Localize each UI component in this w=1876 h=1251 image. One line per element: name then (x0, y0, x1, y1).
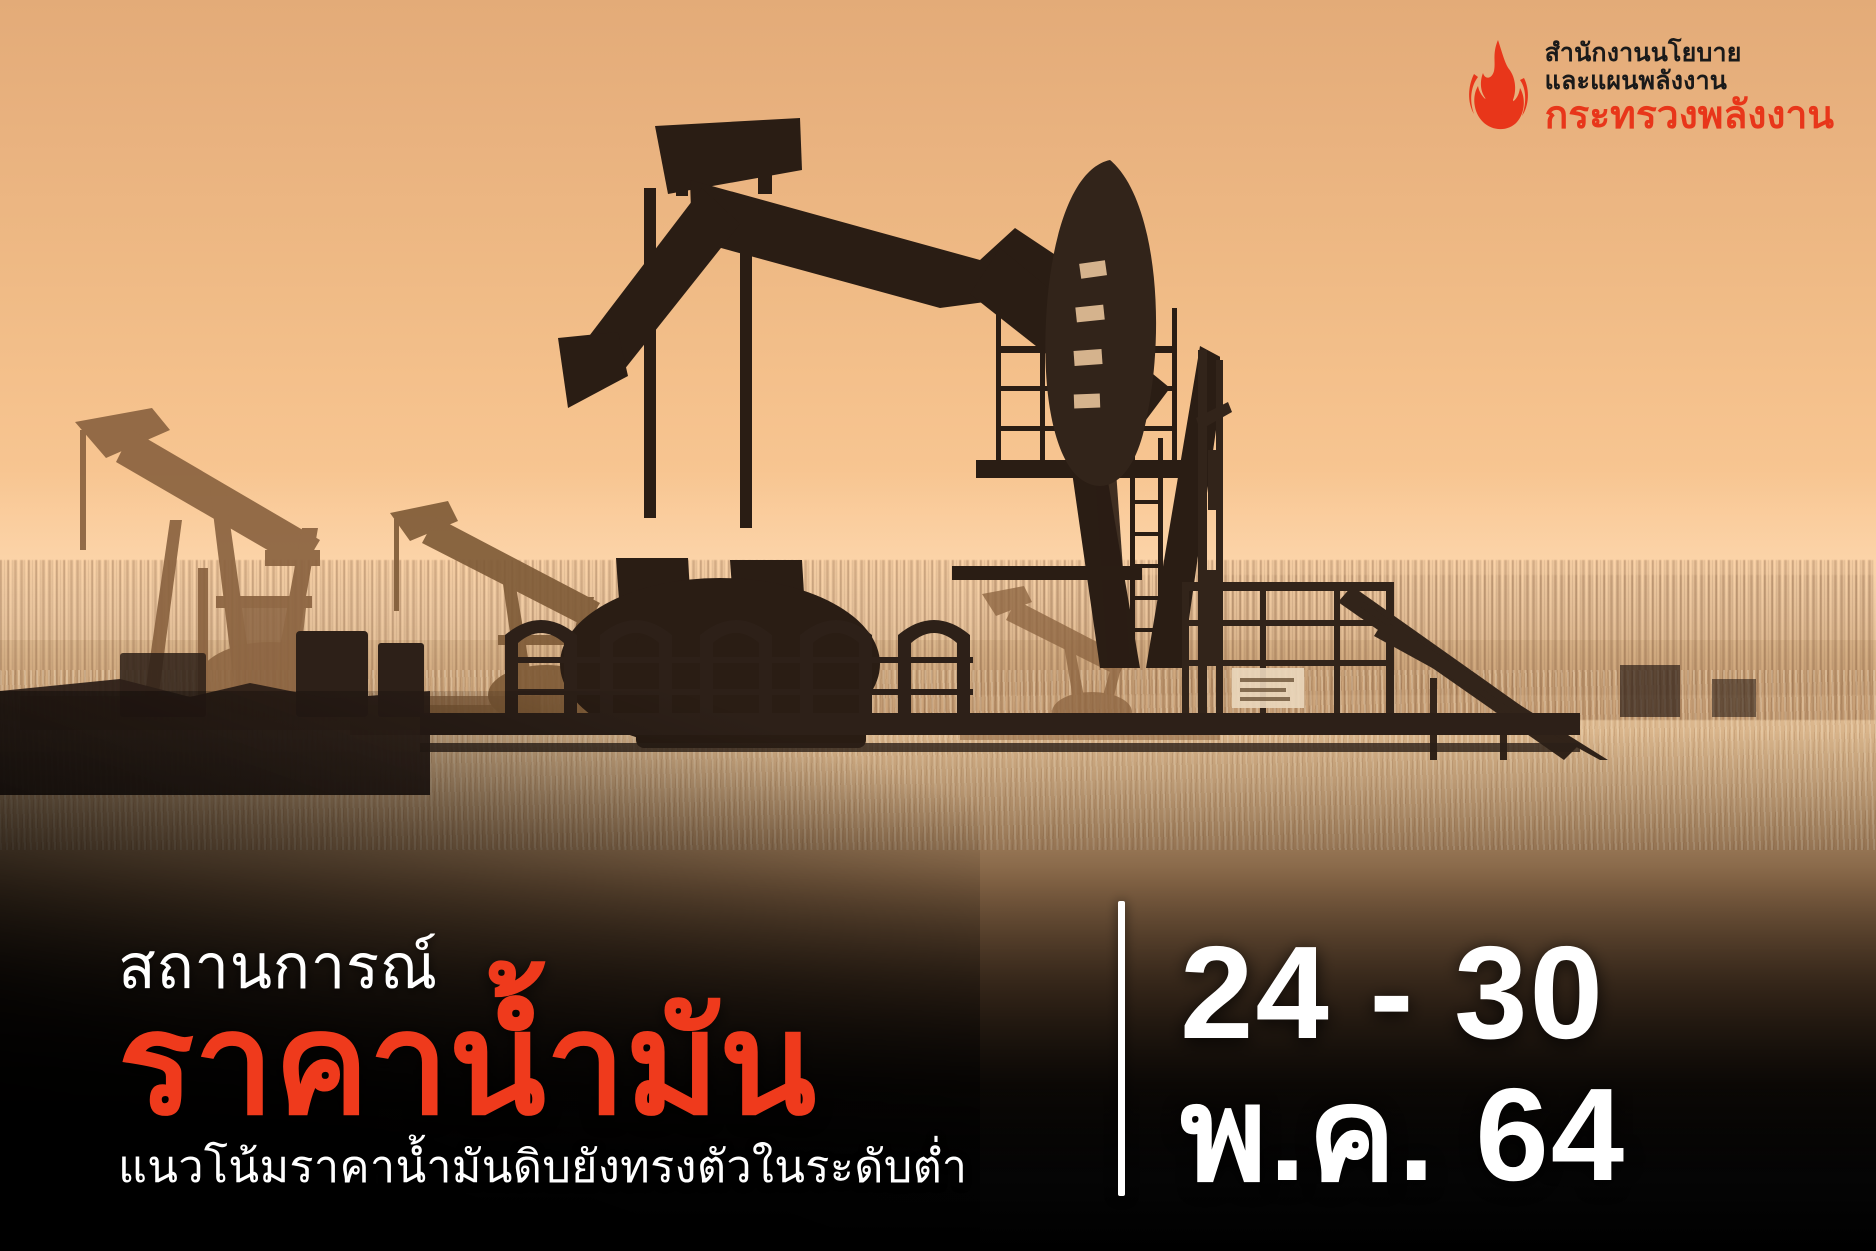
date-range: 24 - 30 (1180, 924, 1840, 1061)
headline-subtitle: แนวโน้มราคาน้ำมันดิบยังทรงตัวในระดับต่ำ (118, 1144, 1118, 1189)
flame-icon (1465, 38, 1531, 138)
date-month-year: พ.ค. 64 (1180, 1066, 1840, 1203)
logo-line-3: กระทรวงพลังงาน (1545, 96, 1834, 135)
date-block: 24 - 30 พ.ค. 64 (1180, 924, 1840, 1203)
logo-line-2: และแผนพลังงาน (1545, 69, 1834, 94)
agency-logo: สำนักงานนโยบาย และแผนพลังงาน กระทรวงพลัง… (1465, 38, 1834, 138)
poster-canvas: สำนักงานนโยบาย และแผนพลังงาน กระทรวงพลัง… (0, 0, 1876, 1251)
vertical-divider (1118, 901, 1125, 1196)
foreground-fence-and-piping (0, 595, 1876, 795)
headline-block: สถานการณ์ ราคาน้ำมัน แนวโน้มราคาน้ำมันดิ… (118, 937, 1118, 1189)
headline-main: ราคาน้ำมัน (118, 993, 1118, 1138)
logo-line-1: สำนักงานนโยบาย (1545, 41, 1834, 66)
